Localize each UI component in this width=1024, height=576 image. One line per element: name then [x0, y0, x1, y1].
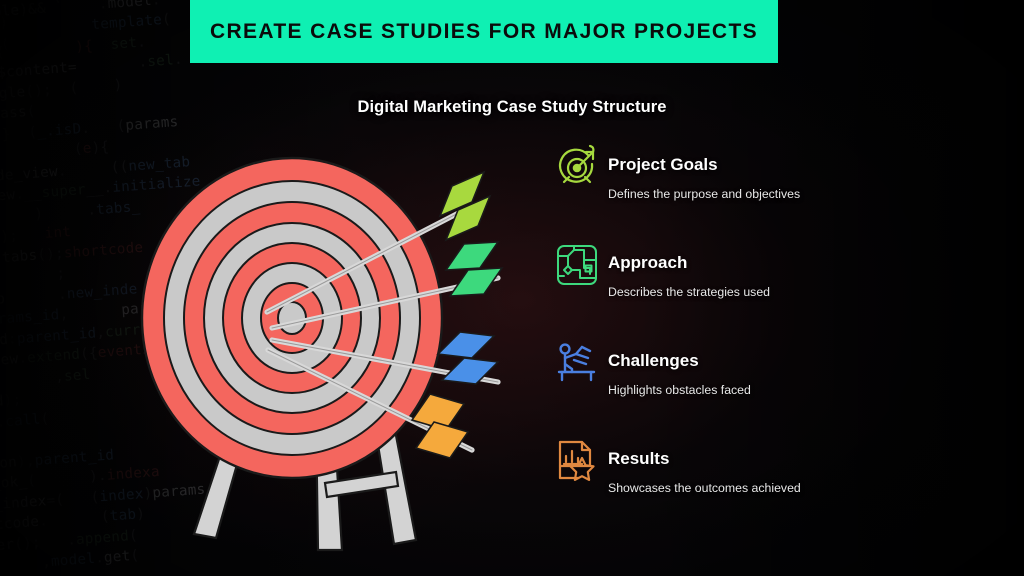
- list-item-project-goals[interactable]: Project Goals Defines the purpose and ob…: [548, 140, 968, 238]
- list-item-description: Showcases the outcomes achieved: [608, 479, 948, 497]
- target-arrow-icon: [552, 142, 602, 192]
- archery-target-illustration: [120, 150, 540, 560]
- list-item-text: Project Goals Defines the purpose and ob…: [608, 140, 948, 203]
- slide-root: )).changeShortcodeParams( model. ).colla…: [0, 0, 1024, 576]
- list-item-approach[interactable]: Approach Describes the strategies used: [548, 238, 968, 336]
- list-item-title: Project Goals: [608, 154, 948, 176]
- case-study-structure-list: Project Goals Defines the purpose and ob…: [548, 140, 968, 532]
- list-item-text: Results Showcases the outcomes achieved: [608, 434, 948, 497]
- header-banner: CREATE CASE STUDIES FOR MAJOR PROJECTS: [190, 0, 778, 63]
- list-item-description: Highlights obstacles faced: [608, 381, 948, 399]
- target-svg: [120, 150, 540, 560]
- list-item-description: Describes the strategies used: [608, 283, 948, 301]
- list-item-description: Defines the purpose and objectives: [608, 185, 948, 203]
- target-rings: [142, 158, 442, 478]
- list-item-text: Approach Describes the strategies used: [608, 238, 948, 301]
- list-item-text: Challenges Highlights obstacles faced: [608, 336, 948, 399]
- list-item-title: Results: [608, 448, 948, 470]
- flowchart-icon: [552, 240, 602, 290]
- list-item-title: Challenges: [608, 350, 948, 372]
- subtitle: Digital Marketing Case Study Structure: [0, 98, 1024, 117]
- page-title: CREATE CASE STUDIES FOR MAJOR PROJECTS: [210, 20, 758, 44]
- list-item-challenges[interactable]: Challenges Highlights obstacles faced: [548, 336, 968, 434]
- list-item-results[interactable]: Results Showcases the outcomes achieved: [548, 434, 968, 532]
- person-pushing-obstacle-icon: [552, 338, 602, 388]
- list-item-title: Approach: [608, 252, 948, 274]
- report-chart-star-icon: [552, 436, 602, 486]
